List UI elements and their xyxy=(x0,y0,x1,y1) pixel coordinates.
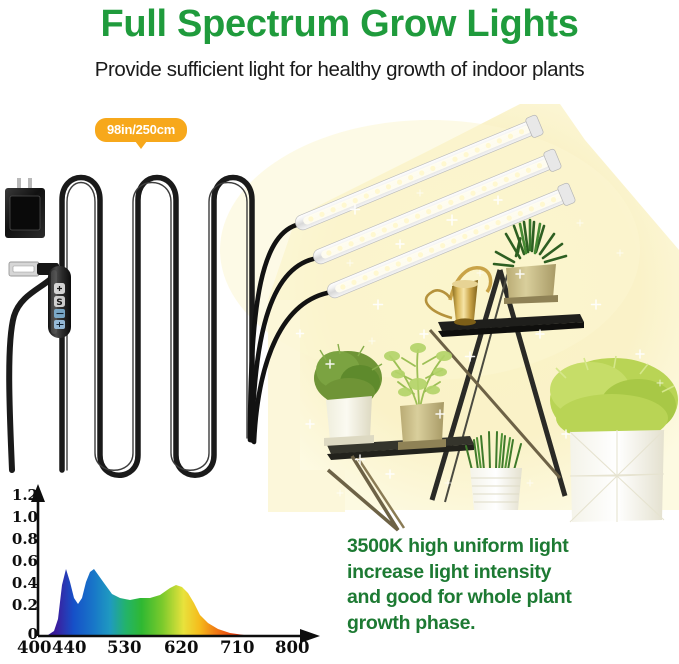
usb-power-adapter xyxy=(5,178,45,238)
spectrum-area xyxy=(42,569,304,636)
feature-copy-line: growth phase. xyxy=(347,611,677,637)
controller-button[interactable]: S xyxy=(54,296,65,308)
gold-watering-can xyxy=(426,268,491,326)
controller-button[interactable] xyxy=(54,320,65,329)
plant-pot xyxy=(506,264,556,300)
grass-foliage xyxy=(466,432,521,470)
chart-plot xyxy=(4,484,324,664)
product-infographic: S xyxy=(0,0,679,664)
potted-plant xyxy=(384,343,452,450)
cable-length-badge: 98in/250cm xyxy=(95,118,187,142)
spectrum-chart: 1.2 1.0 0.8 0.6 0.4 0.2 0 xyxy=(4,484,324,664)
potted-plant xyxy=(550,356,678,522)
feature-copy: 3500K high uniform light increase light … xyxy=(347,534,677,636)
plant-pot xyxy=(470,468,522,510)
controller-button[interactable] xyxy=(54,283,65,294)
can-spout xyxy=(426,290,452,318)
page-subtitle: Provide sufficient light for healthy gro… xyxy=(0,57,679,83)
potted-plant xyxy=(466,432,522,510)
feature-copy-line: 3500K high uniform light xyxy=(347,534,677,560)
plant-pot xyxy=(326,396,372,440)
cable-length-label: 98in/250cm xyxy=(107,122,175,137)
bushy-foliage xyxy=(550,356,678,442)
controller-button[interactable] xyxy=(54,309,65,318)
inline-controller[interactable]: S xyxy=(48,266,71,338)
svg-text:S: S xyxy=(56,298,62,308)
page-title: Full Spectrum Grow Lights xyxy=(0,2,679,46)
feature-copy-line: and good for whole plant xyxy=(347,585,677,611)
serpentine-cable xyxy=(62,178,252,476)
feature-copy-line: increase light intensity xyxy=(347,560,677,586)
plant-pot xyxy=(400,402,444,444)
potted-plant xyxy=(314,344,382,446)
